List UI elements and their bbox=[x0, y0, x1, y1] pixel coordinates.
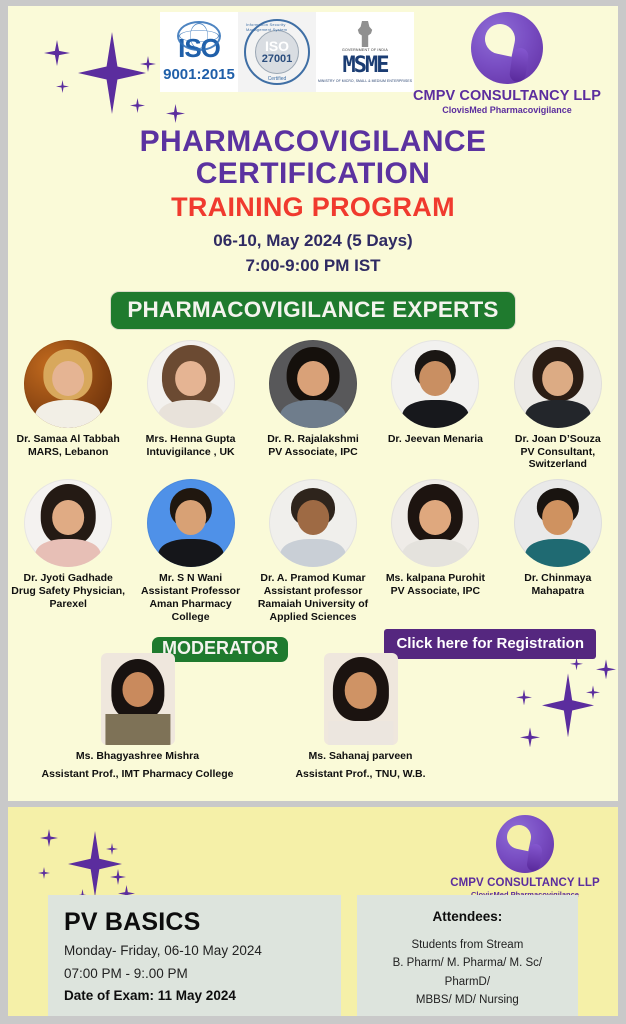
msme-gov-text: GOVERNMENT OF INDIA bbox=[342, 48, 388, 52]
moderator-card: Ms. Bhagyashree Mishra Assistant Prof., … bbox=[30, 653, 245, 781]
avatar bbox=[391, 479, 479, 567]
poster-root: ISO 9001:2015 Information Security Manag… bbox=[0, 0, 626, 1024]
title-line-1: PHARMACOVIGILANCE bbox=[8, 126, 618, 158]
expert-card: Mr. S N Wani Assistant Professor Aman Ph… bbox=[130, 479, 250, 623]
expert-role: Assistant Professor Aman Pharmacy Colleg… bbox=[130, 585, 250, 623]
course-schedule: Monday- Friday, 06-10 May 2024 bbox=[64, 942, 325, 960]
attendees-line-1: Students from Stream bbox=[373, 936, 562, 954]
expert-name: Mr. S N Wani bbox=[130, 572, 250, 585]
iso-27001-ring: Information Security Management System I… bbox=[244, 19, 310, 85]
expert-name: Dr. A. Pramod Kumar bbox=[253, 572, 373, 585]
expert-card: Dr. Joan D’Souza PV Consultant, Switzerl… bbox=[498, 340, 618, 471]
iso-9001-standard: 9001:2015 bbox=[163, 66, 235, 83]
expert-role: MARS, Lebanon bbox=[8, 446, 128, 459]
company-name: CMPV CONSULTANCY LLP bbox=[450, 877, 600, 889]
iso-27001-word: ISO bbox=[265, 39, 289, 53]
expert-card: Ms. kalpana Purohit PV Associate, IPC bbox=[375, 479, 495, 598]
company-name: CMPV CONSULTANCY LLP bbox=[412, 88, 602, 104]
program-time: 7:00-9:00 PM IST bbox=[8, 256, 618, 276]
experts-row-1: Dr. Samaa Al Tabbah MARS, Lebanon Mrs. H… bbox=[8, 340, 618, 471]
course-title: PV BASICS bbox=[64, 909, 325, 937]
bottom-panel: CMPV CONSULTANCY LLP ClovisMed Pharmacov… bbox=[8, 807, 618, 1016]
bottom-cards: PV BASICS Monday- Friday, 06-10 May 2024… bbox=[8, 895, 618, 1016]
avatar bbox=[514, 479, 602, 567]
title-line-2: CERTIFICATION bbox=[8, 158, 618, 190]
expert-name: Ms. kalpana Purohit bbox=[375, 572, 495, 585]
moderator-section: MODERATOR Click here for Registration bbox=[8, 625, 618, 765]
moderator-card: Ms. Sahanaj parveen Assistant Prof., TNU… bbox=[273, 653, 448, 781]
company-tagline: ClovisMed Pharmacovigilance bbox=[412, 105, 602, 115]
expert-card: Dr. Chinmaya Mahapatra bbox=[498, 479, 618, 598]
expert-card: Dr. A. Pramod Kumar Assistant professor … bbox=[253, 479, 373, 623]
expert-name: Dr. R. Rajalakshmi bbox=[253, 433, 373, 446]
expert-role: Assistant professor Ramaiah University o… bbox=[253, 585, 373, 623]
attendees-line-3: MBBS/ MD/ Nursing bbox=[373, 991, 562, 1009]
expert-role: PV Consultant, Switzerland bbox=[498, 446, 618, 472]
expert-name: Dr. Jyoti Gadhade bbox=[8, 572, 128, 585]
expert-role: Drug Safety Physician, Parexel bbox=[8, 585, 128, 611]
course-card: PV BASICS Monday- Friday, 06-10 May 2024… bbox=[48, 895, 341, 1016]
moderator-name: Ms. Bhagyashree Mishra bbox=[30, 750, 245, 763]
attendees-card: Attendees: Students from Stream B. Pharm… bbox=[357, 895, 578, 1016]
avatar bbox=[269, 340, 357, 428]
expert-name: Dr. Jeevan Menaria bbox=[375, 433, 495, 446]
attendees-line-2: B. Pharm/ M. Pharma/ M. Sc/ PharmD/ bbox=[373, 954, 562, 991]
avatar bbox=[24, 340, 112, 428]
top-panel: ISO 9001:2015 Information Security Manag… bbox=[8, 6, 618, 801]
expert-role: Intuvigilance , UK bbox=[130, 446, 250, 459]
expert-card: Dr. Jyoti Gadhade Drug Safety Physician,… bbox=[8, 479, 128, 610]
avatar bbox=[514, 340, 602, 428]
poster-header: ISO 9001:2015 Information Security Manag… bbox=[8, 6, 618, 124]
cmpv-logo-icon bbox=[471, 12, 543, 84]
expert-role: PV Associate, IPC bbox=[375, 585, 495, 598]
globe-icon bbox=[177, 21, 221, 51]
avatar bbox=[269, 479, 357, 567]
expert-name: Dr. Samaa Al Tabbah bbox=[8, 433, 128, 446]
india-emblem-icon bbox=[355, 21, 375, 47]
program-dates: 06-10, May 2024 (5 Days) bbox=[8, 231, 618, 251]
msme-ministry-text: MINISTRY OF MICRO, SMALL & MEDIUM ENTERP… bbox=[318, 79, 412, 83]
avatar bbox=[101, 653, 175, 745]
expert-card: Dr. Jeevan Menaria bbox=[375, 340, 495, 446]
iso-27001-badge: Information Security Management System I… bbox=[238, 12, 316, 92]
experts-banner: PHARMACOVIGILANCE EXPERTS bbox=[110, 291, 515, 330]
iso-27001-number: 27001 bbox=[262, 53, 293, 65]
cmpv-logo-icon bbox=[496, 815, 554, 873]
expert-role: PV Associate, IPC bbox=[253, 446, 373, 459]
iso-27001-top-text: Information Security Management System bbox=[246, 22, 308, 32]
avatar bbox=[324, 653, 398, 745]
moderator-role: Assistant Prof., IMT Pharmacy College bbox=[30, 768, 245, 781]
avatar bbox=[24, 479, 112, 567]
avatar bbox=[147, 340, 235, 428]
title-line-3: TRAINING PROGRAM bbox=[8, 192, 618, 223]
expert-card: Mrs. Henna Gupta Intuvigilance , UK bbox=[130, 340, 250, 459]
iso-27001-inner: ISO 27001 bbox=[255, 30, 299, 74]
msme-badge: GOVERNMENT OF INDIA MSME MINISTRY OF MIC… bbox=[316, 12, 414, 92]
moderator-role: Assistant Prof., TNU, W.B. bbox=[273, 768, 448, 781]
experts-row-2: Dr. Jyoti Gadhade Drug Safety Physician,… bbox=[8, 479, 618, 623]
expert-name: Dr. Joan D’Souza bbox=[498, 433, 618, 446]
msme-word: MSME bbox=[343, 55, 388, 77]
iso-27001-bottom-text: Certified bbox=[268, 76, 287, 82]
avatar bbox=[391, 340, 479, 428]
expert-card: Dr. R. Rajalakshmi PV Associate, IPC bbox=[253, 340, 373, 459]
expert-name: Mrs. Henna Gupta bbox=[130, 433, 250, 446]
moderator-people: Ms. Bhagyashree Mishra Assistant Prof., … bbox=[8, 653, 618, 781]
company-logo: CMPV CONSULTANCY LLP ClovisMed Pharmacov… bbox=[412, 12, 602, 115]
title-block: PHARMACOVIGILANCE CERTIFICATION TRAINING… bbox=[8, 126, 618, 276]
certification-badges: ISO 9001:2015 Information Security Manag… bbox=[160, 12, 414, 92]
attendees-title: Attendees: bbox=[373, 909, 562, 924]
bottom-company-logo: CMPV CONSULTANCY LLP ClovisMed Pharmacov… bbox=[450, 815, 600, 899]
avatar bbox=[147, 479, 235, 567]
expert-name: Dr. Chinmaya Mahapatra bbox=[498, 572, 618, 598]
expert-card: Dr. Samaa Al Tabbah MARS, Lebanon bbox=[8, 340, 128, 459]
moderator-name: Ms. Sahanaj parveen bbox=[273, 750, 448, 763]
course-time: 07:00 PM - 9:.00 PM bbox=[64, 965, 325, 983]
exam-date: Date of Exam: 11 May 2024 bbox=[64, 988, 325, 1003]
iso-9001-badge: ISO 9001:2015 bbox=[160, 12, 238, 92]
